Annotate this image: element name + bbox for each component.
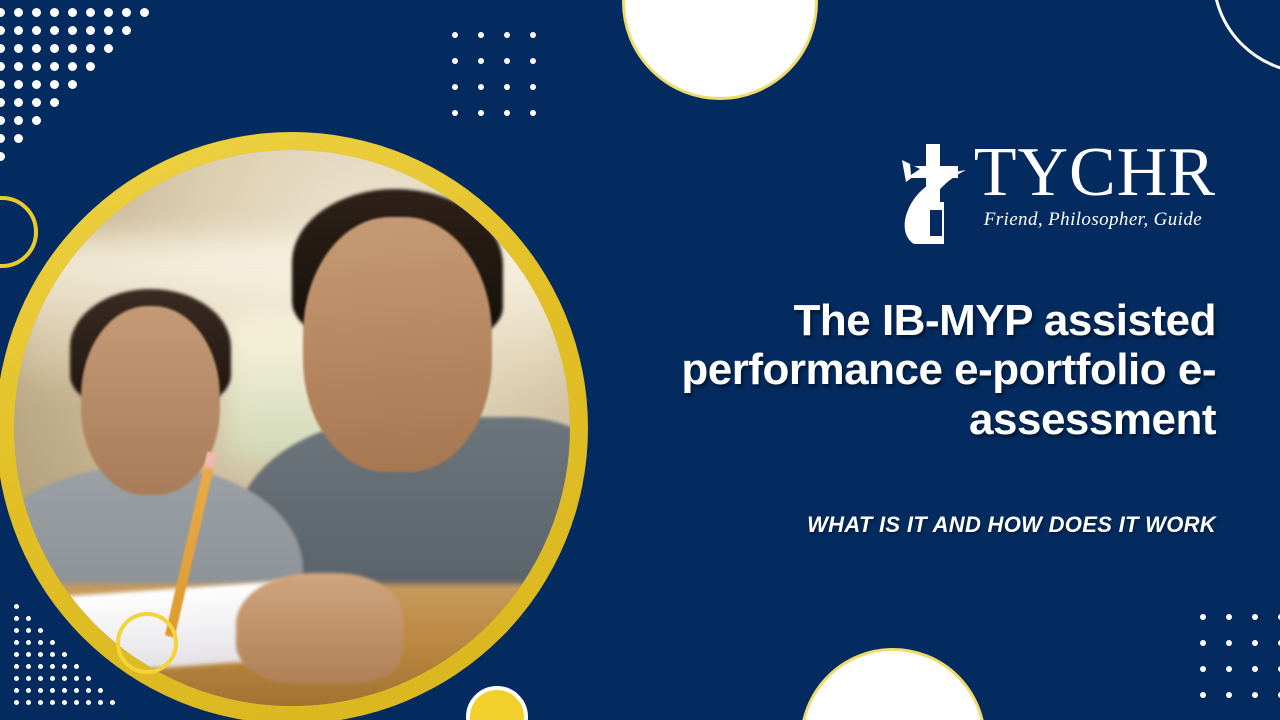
decor-dot [86,8,95,17]
logo-text-block: TYCHR Friend, Philosopher, Guide [974,140,1216,231]
photo-man-head [303,217,492,473]
decor-dot [14,8,23,17]
dot-row [0,8,158,26]
photo-boy-head [81,306,220,495]
page-title: The IB-MYP assisted performance e-portfo… [656,296,1216,444]
decor-dot [104,44,113,53]
decor-dot [14,62,23,71]
decor-dot [504,32,510,38]
decor-dot [14,44,23,53]
decor-dot [68,80,77,89]
decor-dot [0,152,5,161]
decor-dot [478,32,484,38]
decor-dot [50,44,59,53]
banner-canvas: TYCHR Friend, Philosopher, Guide The IB-… [0,0,1280,720]
decor-dot [452,32,458,38]
decor-dot [104,8,113,17]
page-subtitle: WHAT IS IT AND HOW DOES IT WORK [656,512,1216,538]
decor-dot [140,8,149,17]
decor-dot [32,44,41,53]
decor-dot [32,98,41,107]
decor-dot [32,116,41,125]
decor-dot [530,110,536,116]
decor-dot [14,26,23,35]
decor-dot [530,32,536,38]
dot-grid-top-left [0,8,158,170]
decor-dot [0,44,5,53]
decor-dot [68,26,77,35]
decor-dot [504,84,510,90]
decor-dot [14,116,23,125]
decor-dot [32,62,41,71]
decor-dot [504,58,510,64]
decor-dot [50,26,59,35]
decor-dot [530,84,536,90]
photo-hand [236,573,403,684]
dot-row [0,98,158,116]
decor-dot [1252,692,1258,698]
decor-dot [50,62,59,71]
decor-dot [478,84,484,90]
decor-dot [14,80,23,89]
tychr-logo: TYCHR Friend, Philosopher, Guide [896,140,1216,246]
decor-dot [14,98,23,107]
dot-row [452,84,556,110]
decor-dot [0,98,5,107]
decor-dot [86,44,95,53]
decor-dot [68,62,77,71]
decor-dot [0,80,5,89]
decor-dot [530,58,536,64]
decor-dot [452,84,458,90]
decor-dot [50,8,59,17]
decor-dot [122,26,131,35]
decor-dot [1226,666,1232,672]
decor-dot [50,80,59,89]
decor-dot [86,62,95,71]
decor-dot [86,26,95,35]
dot-row [452,32,556,58]
decor-dot [452,110,458,116]
decor-dot [32,8,41,17]
decor-dot [478,58,484,64]
decor-dot [1252,666,1258,672]
decor-dot [504,110,510,116]
decor-dot [122,8,131,17]
decor-dot [0,62,5,71]
decor-dot [0,134,5,143]
dot-row [0,62,158,80]
decor-dot [0,8,5,17]
dot-row [0,116,158,134]
dot-row [0,26,158,44]
decor-dot [68,44,77,53]
decor-dot [1252,614,1258,620]
decor-dot [50,98,59,107]
decor-yellow-ring-over-photo [116,612,178,674]
decor-dot [452,58,458,64]
decor-white-arc-top-right [1212,0,1280,74]
dot-row [0,44,158,62]
decor-dot [0,26,5,35]
decor-dot [104,26,113,35]
decor-dot [1226,692,1232,698]
decor-dot [478,110,484,116]
photo-gold-frame [0,132,588,720]
decor-dot [32,80,41,89]
dot-row [0,80,158,98]
dot-row [452,58,556,84]
content-column: TYCHR Friend, Philosopher, Guide The IB-… [656,0,1216,720]
logo-tagline: Friend, Philosopher, Guide [984,209,1216,231]
dot-row [452,110,556,136]
decor-dot [1226,614,1232,620]
logo-wordmark: TYCHR [974,140,1216,207]
decor-dot [1252,640,1258,646]
tychr-torch-emblem-icon [896,140,972,246]
decor-dot [0,116,5,125]
dot-grid-top-middle [452,32,556,136]
decor-dot [32,26,41,35]
decor-dot [68,8,77,17]
photo-circle [14,150,570,706]
decor-dot [1226,640,1232,646]
decor-dot [14,134,23,143]
